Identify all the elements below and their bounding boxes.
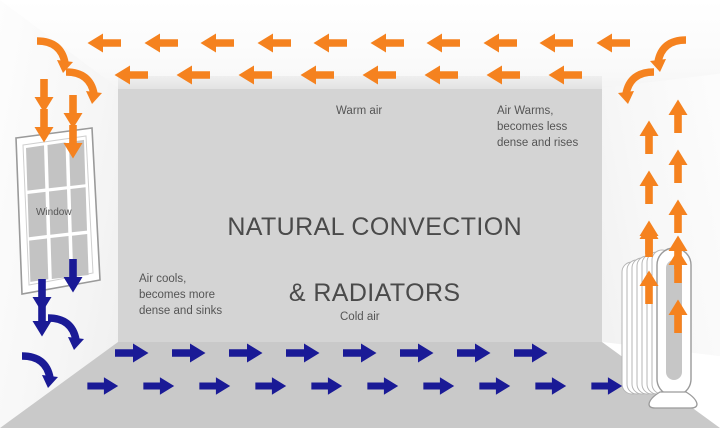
cold-arrow-floor-lower (367, 377, 398, 395)
warm-arrow-radiator-outlet (639, 223, 659, 257)
air-warms-annotation: Air Warms, becomes less dense and rises (497, 104, 578, 152)
warm-arrow-sinking-outer (34, 109, 54, 143)
cold-arrow-sinking-outer (32, 279, 52, 313)
cold-arrow-floor-lower (535, 377, 566, 395)
warm-arrow-rising-outer (668, 299, 688, 333)
cold-arrow-floor-lower (479, 377, 510, 395)
cold-arrow-floor-upper (229, 343, 263, 363)
cold-arrow-floor-upper (343, 343, 377, 363)
warm-arrow-ceiling (200, 33, 234, 53)
cold-arrow-floor-lower (199, 377, 230, 395)
cold-arrow-floor-upper (457, 343, 491, 363)
warm-arrow-rising-inner (639, 120, 659, 154)
warm-arrow-radiator-outlet (668, 235, 688, 269)
warm-arrow-ceiling (144, 33, 178, 53)
warm-arrow-rising-inner (639, 170, 659, 204)
warm-arrow-ceiling (426, 33, 460, 53)
cold-arrow-corner-bottom-outer (20, 348, 60, 388)
warm-arrow-wall-top (548, 65, 582, 85)
warm-arrow-ceiling (87, 33, 121, 53)
warm-arrow-ceiling (483, 33, 517, 53)
warm-arrow-wall-top (300, 65, 334, 85)
warm-arrow-ceiling (596, 33, 630, 53)
radiator-graphic (620, 246, 706, 412)
warm-arrow-sinking-outer (34, 79, 54, 113)
cold-arrow-floor-upper (400, 343, 434, 363)
air-cools-annotation: Air cools, becomes more dense and sinks (139, 272, 222, 320)
cold-arrow-floor-upper (514, 343, 548, 363)
warm-arrow-wall-top (486, 65, 520, 85)
warm-arrow-ceiling (257, 33, 291, 53)
cold-arrow-floor-lower (423, 377, 454, 395)
cold-arrow-corner-bottom-inner (46, 310, 86, 350)
cold-arrow-floor-lower (143, 377, 174, 395)
warm-arrow-rising-outer (668, 99, 688, 133)
warm-arrow-wall-top (114, 65, 148, 85)
cold-arrow-floor-lower (591, 377, 622, 395)
cold-arrow-sinking-inner (63, 259, 83, 293)
warm-arrow-wall-top (238, 65, 272, 85)
warm-arrow-wall-top (424, 65, 458, 85)
warm-arrow-rising-outer (668, 149, 688, 183)
warm-arrow-ceiling (370, 33, 404, 53)
warm-arrow-ceiling (539, 33, 573, 53)
warm-arrow-sinking-inner (63, 95, 83, 129)
cold-arrow-floor-lower (311, 377, 342, 395)
title-line-2: & RADIATORS (289, 279, 461, 307)
warm-air-label: Warm air (336, 104, 382, 120)
convection-diagram: Window NATURAL CONVECTION & RADIATORS Wa… (0, 0, 720, 428)
cold-arrow-floor-upper (286, 343, 320, 363)
warm-arrow-corner-right-inner (616, 64, 656, 104)
warm-arrow-rising-inner (639, 270, 659, 304)
cold-air-label: Cold air (340, 310, 380, 326)
warm-arrow-wall-top (176, 65, 210, 85)
cold-arrow-floor-upper (115, 343, 149, 363)
cold-arrow-floor-lower (87, 377, 118, 395)
warm-arrow-sinking-inner (63, 125, 83, 159)
cold-arrow-floor-lower (255, 377, 286, 395)
warm-arrow-ceiling (313, 33, 347, 53)
warm-arrow-rising-outer (668, 199, 688, 233)
window-label: Window (36, 206, 72, 220)
cold-arrow-floor-upper (172, 343, 206, 363)
warm-arrow-wall-top (362, 65, 396, 85)
title-line-1: NATURAL CONVECTION (227, 213, 522, 241)
